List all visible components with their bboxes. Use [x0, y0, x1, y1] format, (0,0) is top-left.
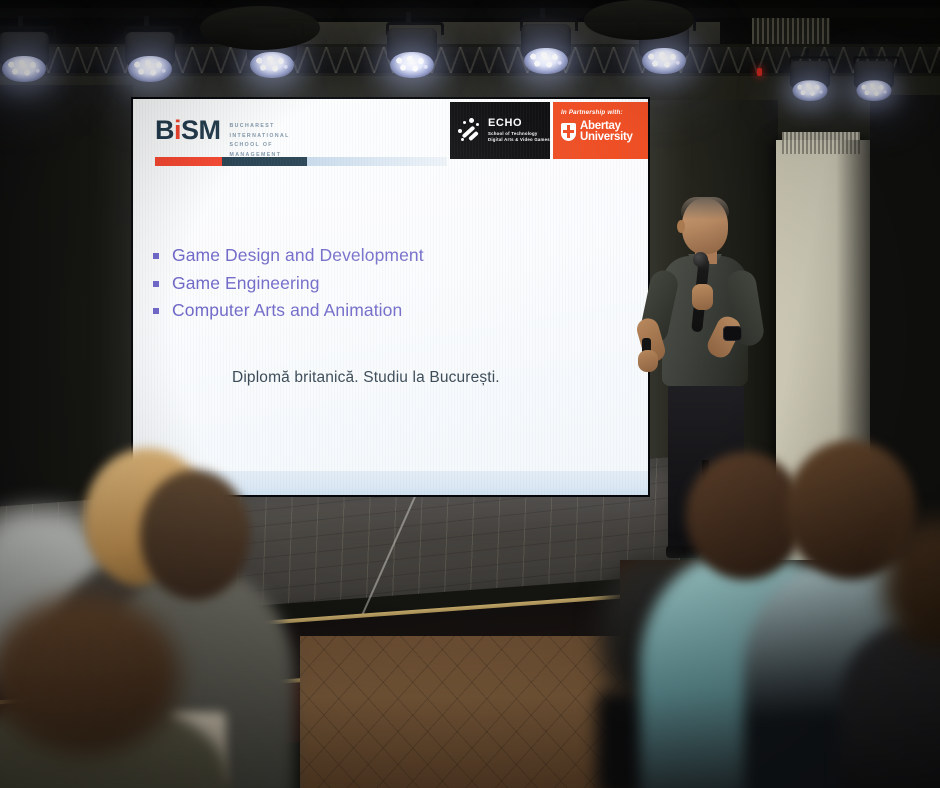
par-light-icon — [852, 56, 897, 106]
list-item: Game Engineering — [153, 273, 424, 294]
color-bar-segment-blue — [307, 157, 447, 166]
ceiling-speaker-icon — [200, 6, 320, 50]
abertay-logo: In Partnership with: Abertay University — [553, 102, 648, 159]
indicator-led-icon — [757, 68, 762, 76]
slide-bottom-band — [133, 471, 648, 495]
bullet-square-icon — [153, 281, 159, 287]
partnership-label: In Partnership with: — [561, 109, 644, 116]
bism-subtitle-line-2: INTERNATIONAL — [230, 132, 290, 142]
speaker-leg-gap — [702, 460, 709, 552]
slide-tagline: Diplomă britanică. Studiu la București. — [232, 369, 500, 387]
list-item: Game Design and Development — [153, 245, 424, 266]
bullet-square-icon — [153, 308, 159, 314]
bism-wordmark: BiSM — [155, 117, 221, 144]
microphone-head-icon — [693, 252, 708, 267]
bism-wordmark-i: i — [174, 115, 181, 145]
presentation-slide: BiSM BUCHAREST INTERNATIONAL SCHOOL OF M… — [133, 99, 648, 495]
bullet-square-icon — [153, 253, 159, 259]
speaker — [640, 198, 770, 558]
bullet-text: Game Engineering — [172, 273, 320, 294]
speaker-ear — [677, 220, 685, 233]
echo-logo: ECHO School of Technology Digital Arts &… — [450, 102, 550, 159]
par-light-icon — [122, 26, 178, 88]
echo-sparkle-icon — [458, 118, 482, 144]
speaker-mic-hand — [692, 284, 713, 310]
par-light-icon — [0, 26, 52, 88]
par-light-icon — [518, 18, 574, 80]
bism-subtitle: BUCHAREST INTERNATIONAL SCHOOL OF MANAGE… — [230, 122, 290, 161]
bism-subtitle-line-1: BUCHAREST — [230, 122, 290, 132]
echo-title: ECHO — [488, 118, 550, 129]
left-wall-dark — [0, 85, 133, 515]
par-light-icon — [384, 22, 440, 84]
speaker-shoe — [666, 546, 700, 558]
ceiling-speaker-icon — [584, 0, 694, 40]
ceiling-beam — [0, 8, 940, 18]
abertay-crest-icon — [561, 123, 576, 141]
bism-logo: BiSM BUCHAREST INTERNATIONAL SCHOOL OF M… — [155, 117, 290, 161]
right-dark-column — [870, 95, 940, 565]
bism-wordmark-sm: SM — [181, 115, 221, 145]
bism-subtitle-line-3: SCHOOL OF — [230, 141, 290, 151]
echo-text-block: ECHO School of Technology Digital Arts &… — [488, 118, 550, 143]
abertay-name-row: Abertay University — [561, 121, 644, 143]
par-light-icon — [788, 56, 833, 106]
brand-color-bar — [155, 157, 447, 166]
presentation-photo: BiSM BUCHAREST INTERNATIONAL SCHOOL OF M… — [0, 0, 940, 788]
color-bar-segment-red — [155, 157, 222, 166]
parquet-floor — [300, 636, 940, 788]
abertay-name-line-2: University — [580, 132, 633, 143]
bism-wordmark-b: B — [155, 115, 174, 145]
speaker-hair — [681, 197, 729, 219]
slide-bullet-list: Game Design and Development Game Enginee… — [153, 245, 424, 328]
list-item: Computer Arts and Animation — [153, 300, 424, 321]
echo-subtitle-line-2: Digital Arts & Video Games — [488, 137, 550, 143]
abertay-wordmark: Abertay University — [580, 121, 633, 143]
smartwatch-icon — [723, 326, 742, 341]
bullet-text: Game Design and Development — [172, 245, 424, 266]
color-bar-segment-navy — [222, 157, 307, 166]
speaker-left-hand — [638, 350, 658, 372]
bullet-text: Computer Arts and Animation — [172, 300, 402, 321]
